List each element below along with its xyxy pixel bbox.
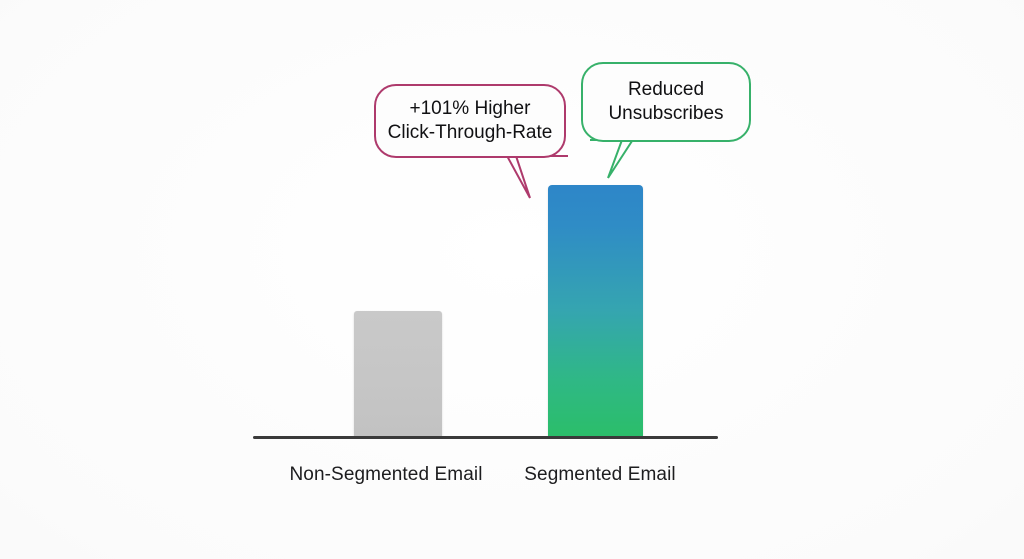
callout-unsub-bubble: Reduced Unsubscribes	[581, 62, 751, 142]
x-axis-label-non-segmented-email: Non-Segmented Email	[285, 464, 487, 486]
bar-non-segmented-email	[354, 311, 442, 436]
x-axis-baseline	[253, 436, 718, 439]
callout-ctr-text: +101% Higher Click-Through-Rate	[380, 97, 561, 145]
callout-ctr-line-2: Click-Through-Rate	[388, 122, 553, 143]
callout-unsub-text: Reduced Unsubscribes	[600, 78, 731, 126]
callout-unsub-line-2: Unsubscribes	[608, 103, 723, 124]
callout-ctr-line-1: +101% Higher	[410, 98, 531, 119]
x-axis-label-segmented-email: Segmented Email	[520, 464, 680, 486]
callout-ctr-bubble: +101% Higher Click-Through-Rate	[374, 84, 566, 158]
bar-segmented-email	[548, 185, 643, 436]
callout-unsub-line-1: Reduced	[628, 79, 704, 100]
chart-canvas: Non-Segmented Email Segmented Email +101…	[0, 0, 1024, 559]
